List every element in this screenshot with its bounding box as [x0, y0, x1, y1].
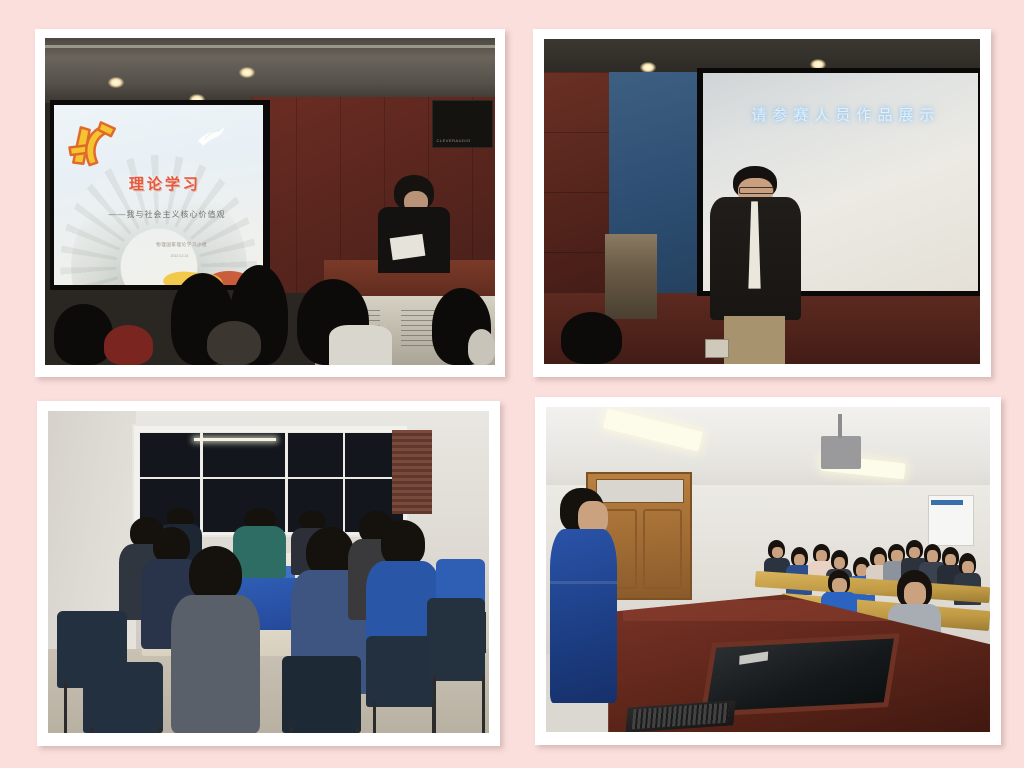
- lectern: [605, 234, 657, 319]
- face: [832, 578, 847, 593]
- ceiling-projector: [821, 436, 861, 469]
- coat-seam: [550, 581, 617, 584]
- audience-shoulder: [329, 325, 392, 365]
- photo-frame-bottom-right[interactable]: [535, 397, 1001, 745]
- fluorescent-tube: [194, 438, 276, 441]
- photo-bottom-left[interactable]: [48, 411, 489, 733]
- folding-chair: [83, 662, 162, 733]
- photo-frame-bottom-left[interactable]: [37, 401, 500, 746]
- brick-wall-outside: [392, 430, 432, 514]
- wall-poster: [928, 495, 974, 546]
- projection-screen: 理论学习 ——我与社会主义核心价值观 物理国家理论学习小组 2015.12.24: [54, 105, 263, 285]
- hammer-and-sickle-icon: [62, 109, 125, 181]
- blue-winter-coat: [550, 529, 617, 703]
- audience-head: [207, 321, 261, 365]
- speaker-person: [378, 175, 450, 273]
- wall-socket: [705, 339, 729, 357]
- audience-group: [45, 260, 495, 365]
- wall-speaker: CLEVERAUDIO: [432, 100, 493, 148]
- door-panel: [643, 509, 682, 590]
- audience-head: [54, 304, 113, 365]
- dove-icon: [192, 119, 230, 155]
- folding-chair: [427, 598, 484, 682]
- slide-title: 请参赛人员作品展示: [720, 104, 973, 125]
- folding-chair: [282, 656, 361, 733]
- speaker-brand-label: CLEVERAUDIO: [437, 138, 471, 143]
- screen-glare: [739, 652, 768, 665]
- photo-frame-top-right[interactable]: 请参赛人员作品展示: [533, 29, 991, 377]
- head: [189, 546, 242, 602]
- photo-bottom-right[interactable]: [546, 407, 990, 732]
- window-pane: [287, 432, 344, 478]
- glasses-icon: [739, 187, 774, 194]
- slide-subtitle: ——我与社会主义核心价值观: [83, 209, 250, 220]
- trousers: [724, 316, 784, 364]
- face: [834, 557, 845, 570]
- presenter-person: [710, 166, 802, 364]
- face: [904, 582, 926, 606]
- slide-title: 理论学习: [100, 173, 230, 194]
- student-foreground: [171, 546, 259, 733]
- face: [962, 561, 973, 575]
- ceiling-rail: [45, 45, 495, 48]
- torso: [171, 595, 259, 733]
- photo-frame-top-left[interactable]: CLEVERAUDIO: [35, 29, 505, 377]
- photo-top-right[interactable]: 请参赛人员作品展示: [544, 39, 980, 364]
- face: [772, 547, 783, 559]
- folding-chair: [366, 636, 437, 707]
- photo-top-left[interactable]: CLEVERAUDIO: [45, 38, 495, 365]
- head: [381, 520, 426, 566]
- audience-head: [104, 325, 154, 365]
- photo-collage: CLEVERAUDIO: [0, 0, 1024, 768]
- window-pane: [139, 432, 201, 478]
- presenter-person: [550, 488, 617, 703]
- ceiling: [45, 38, 495, 103]
- poster-header-bar: [931, 500, 962, 505]
- audience-head: [561, 312, 622, 364]
- keyboard[interactable]: [626, 701, 736, 732]
- audience-shoulder: [468, 329, 495, 365]
